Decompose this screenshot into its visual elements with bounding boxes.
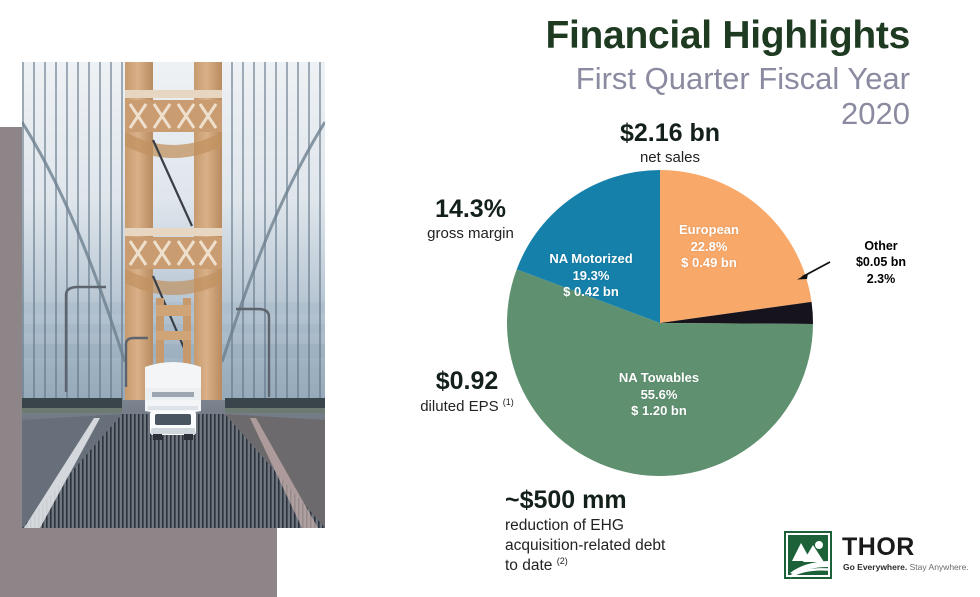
stat-debt-line-3-text: to date bbox=[505, 558, 557, 575]
slide-canvas: Financial Highlights First Quarter Fisca… bbox=[0, 0, 980, 597]
stat-diluted-eps-label-text: diluted EPS bbox=[420, 398, 503, 415]
thor-tagline-bold: Go Everywhere. bbox=[843, 562, 907, 572]
net-sales-pie-chart bbox=[505, 168, 815, 478]
stat-debt-line-1: reduction of EHG bbox=[505, 516, 735, 536]
bridge-photo bbox=[22, 62, 325, 528]
stat-debt-reduction-label: reduction of EHG acquisition-related deb… bbox=[505, 516, 735, 578]
thor-tagline-light: Stay Anywhere. bbox=[907, 562, 968, 572]
page-title: Financial Highlights bbox=[470, 16, 910, 57]
stat-debt-reduction: ~$500 mm reduction of EHG acquisition-re… bbox=[505, 487, 735, 577]
subtitle-line-1: First Quarter Fiscal Year bbox=[470, 62, 910, 97]
thor-logo: THOR Go Everywhere. Stay Anywhere. bbox=[784, 531, 959, 581]
stat-net-sales-label: net sales bbox=[560, 149, 780, 168]
pie-label-other: Other $0.05 bn 2.3% bbox=[826, 238, 936, 287]
thor-mountain-mark-icon bbox=[784, 531, 832, 579]
pie-label-other-percent: 2.3% bbox=[826, 271, 936, 287]
pie-label-other-name: Other bbox=[826, 238, 936, 254]
stat-net-sales: $2.16 bn net sales bbox=[560, 120, 780, 167]
stat-debt-line-3: to date (2) bbox=[505, 556, 735, 577]
other-callout-arrow-icon bbox=[792, 258, 832, 286]
thor-tagline: Go Everywhere. Stay Anywhere. bbox=[843, 563, 969, 572]
pie-svg bbox=[505, 168, 815, 478]
pie-slice-group bbox=[507, 170, 813, 476]
pie-label-other-value: $0.05 bn bbox=[826, 254, 936, 270]
bridge-photo-artwork bbox=[22, 62, 325, 528]
stat-debt-reduction-value: ~$500 mm bbox=[505, 487, 735, 515]
stat-net-sales-value: $2.16 bn bbox=[560, 120, 780, 148]
pie-slice-european[interactable] bbox=[660, 170, 812, 323]
thor-wordmark: THOR bbox=[842, 535, 915, 560]
stat-debt-line-2: acquisition-related debt bbox=[505, 536, 735, 556]
stat-debt-footnote: (2) bbox=[557, 556, 568, 566]
